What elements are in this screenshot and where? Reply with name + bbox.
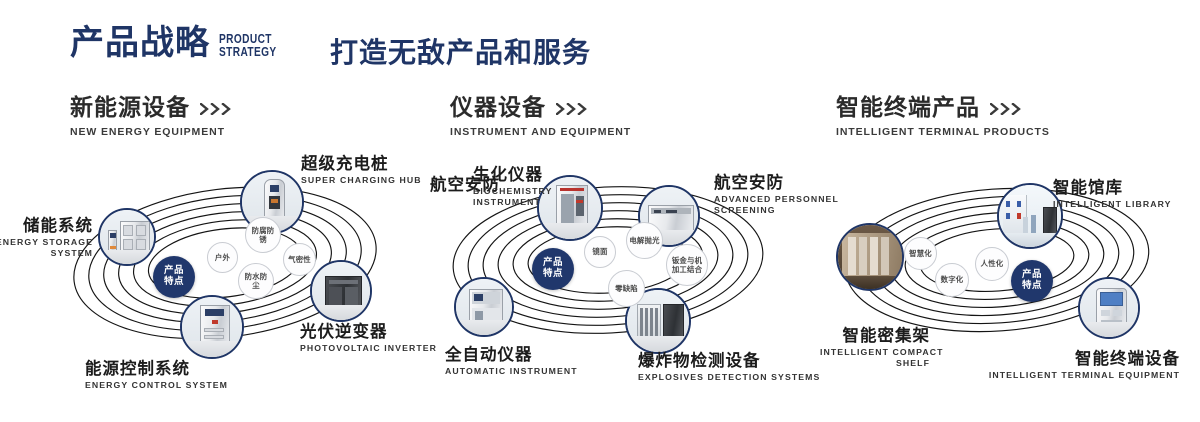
feature-bubble-anticorrosion: 防腐防锈 xyxy=(245,217,281,253)
feature-bubble-sheetmetal-machining: 钣金与机加工结合 xyxy=(666,244,708,286)
label-energy-storage-system: 储能系统 ENERGY STORAGESYSTEM xyxy=(0,217,93,259)
page-title-en: PRODUCT STRATEGY xyxy=(219,32,277,58)
chevron-triple-right-icon xyxy=(556,103,590,115)
label-intelligent-library: 智能馆库 INTELLIGENT LIBRARY xyxy=(1053,179,1172,210)
library-room-art xyxy=(999,185,1061,247)
chevron-triple-right-icon xyxy=(990,103,1024,115)
section-title-cn-2: 仪器设备 xyxy=(450,96,546,121)
node-energy-control-system[interactable] xyxy=(180,295,244,359)
label-photovoltaic-inverter: 光伏逆变器 PHOTOVOLTAIC INVERTER xyxy=(300,323,437,354)
node-automatic-instrument[interactable] xyxy=(454,277,514,337)
feature-bubble-electropolishing: 电解抛光 xyxy=(626,222,663,259)
feature-bubble-airtight: 气密性 xyxy=(283,243,316,276)
label-automatic-instrument: 全自动仪器 AUTOMATIC INSTRUMENT xyxy=(445,346,578,377)
section-heading-new-energy: 新能源设备 NEW ENERGY EQUIPMENT xyxy=(70,96,234,138)
section-title-cn-1: 新能源设备 xyxy=(70,96,190,121)
core-label-line2: 特点 xyxy=(164,277,184,288)
inverter-cabinet-art xyxy=(312,262,370,320)
cluster-instrument-and-equipment: 产品 特点 镜面 电解抛光 钣金与机加工结合 零缺陷 航空安防 生化仪器 BIO… xyxy=(440,160,800,370)
label-biochemistry-instrument: 生化仪器 BIOCHEMISTRYINSTRUMENT xyxy=(473,166,552,208)
section-title-en-3: INTELLIGENT TERMINAL PRODUCTS xyxy=(836,126,1050,138)
label-explosives-detection: 爆炸物检测设备 EXPLOSIVES DETECTION SYSTEMS xyxy=(638,352,820,383)
cluster-new-energy-equipment: 产品 特点 户外 防腐防锈 防水防尘 气密性 储能系统 ENERGY STORA… xyxy=(55,155,415,365)
feature-bubble-digital: 数字化 xyxy=(935,263,969,297)
feature-bubble-humanized: 人性化 xyxy=(975,247,1009,281)
product-strategy-infographic: 产品战略 PRODUCT STRATEGY 打造无敌产品和服务 新能源设备 NE… xyxy=(0,0,1200,422)
compact-shelf-art xyxy=(838,225,902,289)
page-title-block: 产品战略 PRODUCT STRATEGY xyxy=(70,26,293,60)
page-title-en-line2: STRATEGY xyxy=(219,45,277,58)
core-product-features-2: 产品 特点 xyxy=(532,248,574,290)
feature-bubble-zero-defect: 零缺陷 xyxy=(608,270,645,307)
core-product-features-1: 产品 特点 xyxy=(153,256,195,298)
control-cabinet-art xyxy=(182,297,242,357)
feature-bubble-outdoor: 户外 xyxy=(207,242,238,273)
label-intelligent-terminal-equipment: 智能终端设备 INTELLIGENT TERMINAL EQUIPMENT xyxy=(930,350,1180,381)
label-en-screening: ADVANCED PERSONNELSCREENING xyxy=(714,194,839,216)
section-heading-instrument: 仪器设备 INSTRUMENT AND EQUIPMENT xyxy=(450,96,631,138)
section-heading-intelligent: 智能终端产品 INTELLIGENT TERMINAL PRODUCTS xyxy=(836,96,1050,138)
section-title-en-2: INSTRUMENT AND EQUIPMENT xyxy=(450,126,631,138)
page-subtitle: 打造无敌产品和服务 xyxy=(330,31,591,71)
section-title-cn-3: 智能终端产品 xyxy=(836,96,980,121)
feature-bubble-waterproof: 防水防尘 xyxy=(238,263,274,299)
node-intelligent-compact-shelf[interactable] xyxy=(836,223,904,291)
auto-instrument-art xyxy=(456,279,512,335)
node-photovoltaic-inverter[interactable] xyxy=(310,260,372,322)
label-energy-control-system: 能源控制系统 ENERGY CONTROL SYSTEM xyxy=(85,360,228,391)
label-intelligent-compact-shelf: 智能密集架 INTELLIGENT COMPACTSHELF xyxy=(820,327,930,369)
label-en-compact-shelf: INTELLIGENT COMPACTSHELF xyxy=(820,347,930,369)
terminal-kiosk-art xyxy=(1080,279,1138,337)
cluster-intelligent-terminal-products: 产品 特点 智慧化 数字化 人性化 智能馆库 INTELLIGENT LIBRA… xyxy=(825,165,1185,370)
storage-cabinet-art xyxy=(100,210,154,264)
section-title-en-1: NEW ENERGY EQUIPMENT xyxy=(70,126,234,138)
feature-bubble-mirror: 镜面 xyxy=(584,236,616,268)
node-energy-storage-system[interactable] xyxy=(98,208,156,266)
node-intelligent-terminal-equipment[interactable] xyxy=(1078,277,1140,339)
core-product-features-3: 产品 特点 xyxy=(1011,260,1053,302)
label-advanced-personnel-screening: 航空安防 ADVANCED PERSONNELSCREENING xyxy=(714,174,839,216)
label-en-biochemistry: BIOCHEMISTRYINSTRUMENT xyxy=(473,186,552,208)
page-title-cn: 产品战略 xyxy=(70,26,210,60)
chevron-triple-right-icon xyxy=(200,103,234,115)
feature-bubble-intelligent: 智慧化 xyxy=(904,237,937,270)
label-en-energy-storage: ENERGY STORAGESYSTEM xyxy=(0,237,93,259)
